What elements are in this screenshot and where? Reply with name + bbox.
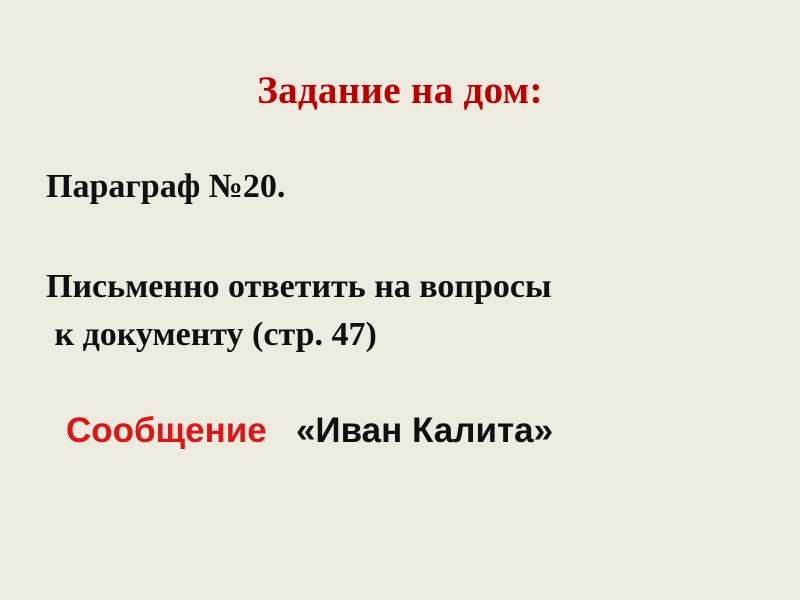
- report-assignment: Сообщение «Иван Калита»: [66, 406, 706, 455]
- report-label: Сообщение: [66, 411, 267, 450]
- assignment-instruction-line-1: Письменно ответить на вопросы: [46, 263, 746, 311]
- page-title: Задание на дом:: [0, 68, 800, 114]
- assignment-paragraph-number: Параграф №20.: [46, 163, 746, 211]
- homework-body: Параграф №20. Письменно ответить на вопр…: [46, 163, 746, 359]
- report-topic-title: «Иван Калита»: [296, 411, 553, 450]
- report-gap: [267, 411, 296, 450]
- slide-canvas: Задание на дом: Параграф №20. Письменно …: [0, 0, 800, 600]
- assignment-instruction-line-2: к документу (стр. 47): [46, 311, 746, 359]
- paragraph-spacer: [46, 211, 746, 263]
